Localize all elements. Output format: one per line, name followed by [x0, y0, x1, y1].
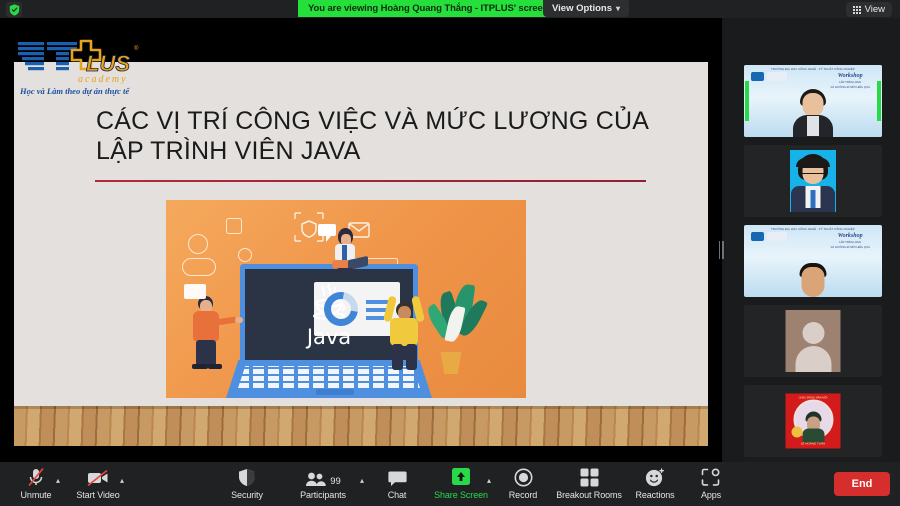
record-button[interactable]: Record — [491, 466, 555, 500]
participant-filmstrip: TRƯỜNG ĐẠI HỌC CÔNG NGHỆ - KỸ THUẬT CÔNG… — [726, 18, 900, 462]
presentation-slide: CÁC VỊ TRÍ CÔNG VIỆC VÀ MỨC LƯƠNG CỦA LẬ… — [14, 62, 708, 446]
breakout-rooms-label: Breakout Rooms — [556, 490, 622, 500]
participants-button[interactable]: 99 Participants — [291, 466, 355, 500]
audio-level-indicator-left — [745, 81, 749, 121]
workshop-title: Workshop LẬP TRÌNH JAVA VÀ HƯỚNG ĐI MỚI … — [830, 233, 870, 249]
workshop-background: TRƯỜNG ĐẠI HỌC CÔNG NGHỆ - KỸ THUẬT CÔNG… — [744, 65, 882, 137]
view-options-button[interactable]: View Options ▾ — [543, 0, 629, 17]
record-circle-icon — [514, 466, 533, 487]
thumbnail-participant-4[interactable] — [744, 305, 882, 377]
svg-text:academy: academy — [78, 74, 128, 84]
start-video-label: Start Video — [76, 490, 119, 500]
itplus-small-logo — [767, 232, 787, 241]
end-meeting-button[interactable]: End — [834, 472, 890, 496]
view-button-label: View — [865, 4, 885, 15]
audio-options-caret[interactable]: ▴ — [56, 476, 60, 485]
top-bar: You are viewing Hoàng Quang Thắng - ITPL… — [0, 0, 900, 18]
apps-label: Apps — [701, 490, 721, 500]
chevron-down-icon: ▾ — [616, 5, 620, 13]
people-icon: 99 — [305, 466, 341, 487]
video-off-icon — [87, 466, 109, 487]
participant-1-video — [793, 87, 833, 137]
avatar — [786, 310, 841, 372]
workshop-header: TRƯỜNG ĐẠI HỌC CÔNG NGHỆ - KỸ THUẬT CÔNG… — [744, 68, 882, 71]
panel-resize-handle[interactable] — [718, 240, 724, 260]
record-label: Record — [509, 490, 537, 500]
chat-button[interactable]: Chat — [365, 466, 429, 500]
breakout-rooms-button[interactable]: Breakout Rooms — [557, 466, 621, 500]
share-screen-button[interactable]: Share Screen — [429, 466, 493, 500]
thumbnail-participant-1[interactable]: TRƯỜNG ĐẠI HỌC CÔNG NGHỆ - KỸ THUẬT CÔNG… — [744, 65, 882, 137]
thumbnail-participant-3[interactable]: TRƯỜNG ĐẠI HỌC CÔNG NGHỆ - KỸ THUẬT CÔNG… — [744, 225, 882, 297]
shield-icon — [238, 466, 256, 487]
view-options-label: View Options — [552, 3, 612, 14]
logo-tagline: Học và Làm theo dự án thực tế — [20, 86, 129, 96]
id-photo-blue — [790, 150, 836, 212]
microphone-muted-icon — [27, 466, 45, 487]
security-button[interactable]: Security — [215, 466, 279, 500]
viewing-banner-text: You are viewing Hoàng Quang Thắng - ITPL… — [308, 3, 548, 14]
meeting-toolbar: Unmute ▴ Start Video ▴ Security — [0, 462, 900, 506]
title-divider — [95, 180, 646, 182]
apps-icon — [701, 466, 721, 487]
audio-level-indicator-right — [877, 81, 881, 121]
viewing-screen-banner: You are viewing Hoàng Quang Thắng - ITPL… — [298, 0, 558, 17]
wood-floor — [14, 406, 708, 446]
slide-title-line-2: LẬP TRÌNH VIÊN JAVA — [96, 136, 656, 166]
reactions-label: Reactions — [635, 490, 674, 500]
grid-icon — [853, 6, 861, 14]
view-button[interactable]: View — [846, 2, 892, 17]
thumbnail-participant-2[interactable] — [744, 145, 882, 217]
workshop-background: TRƯỜNG ĐẠI HỌC CÔNG NGHỆ - KỸ THUẬT CÔNG… — [744, 225, 882, 297]
security-label: Security — [231, 490, 263, 500]
workshop-title: Workshop LẬP TRÌNH JAVA VÀ HƯỚNG ĐI MỚI … — [830, 73, 870, 89]
itplus-logo: LUS ® academy Học và Làm theo dự án thực… — [16, 38, 156, 93]
participants-count: 99 — [330, 476, 341, 487]
unmute-label: Unmute — [21, 490, 52, 500]
reactions-button[interactable]: Reactions — [623, 466, 687, 500]
video-options-caret[interactable]: ▴ — [120, 476, 124, 485]
shield-check-icon[interactable] — [6, 2, 22, 17]
chat-bubble-icon — [388, 466, 407, 487]
participant-3-video — [793, 263, 833, 297]
reactions-smiley-icon — [645, 466, 665, 487]
thumbnail-participant-5[interactable]: CHÚC MỪNG NĂM MỚI LÊ HOÀNG TUẤN — [744, 385, 882, 457]
itplus-small-logo — [767, 72, 787, 81]
red-card-name: LÊ HOÀNG TUẤN — [786, 442, 841, 446]
apps-button[interactable]: Apps — [679, 466, 743, 500]
fpt-logo — [751, 232, 764, 241]
svg-text:LUS: LUS — [86, 51, 130, 76]
java-developer-illustration: Java — [166, 200, 526, 398]
slide-title-line-1: CÁC VỊ TRÍ CÔNG VIỆC VÀ MỨC LƯƠNG CỦA — [96, 106, 656, 136]
red-profile-card: CHÚC MỪNG NĂM MỚI LÊ HOÀNG TUẤN — [786, 394, 841, 449]
shared-screen-stage[interactable]: CÁC VỊ TRÍ CÔNG VIỆC VÀ MỨC LƯƠNG CỦA LẬ… — [0, 18, 722, 462]
fpt-logo — [751, 72, 764, 81]
share-screen-label: Share Screen — [434, 490, 488, 500]
breakout-rooms-icon — [580, 466, 599, 487]
chat-label: Chat — [388, 490, 407, 500]
svg-text:®: ® — [134, 45, 139, 52]
participants-label: Participants — [300, 490, 346, 500]
share-screen-icon — [450, 466, 472, 487]
workshop-header: TRƯỜNG ĐẠI HỌC CÔNG NGHỆ - KỸ THUẬT CÔNG… — [744, 228, 882, 231]
page-title: CÁC VỊ TRÍ CÔNG VIỆC VÀ MỨC LƯƠNG CỦA LẬ… — [96, 106, 656, 166]
end-label: End — [852, 478, 873, 490]
participants-caret[interactable]: ▴ — [360, 476, 364, 485]
